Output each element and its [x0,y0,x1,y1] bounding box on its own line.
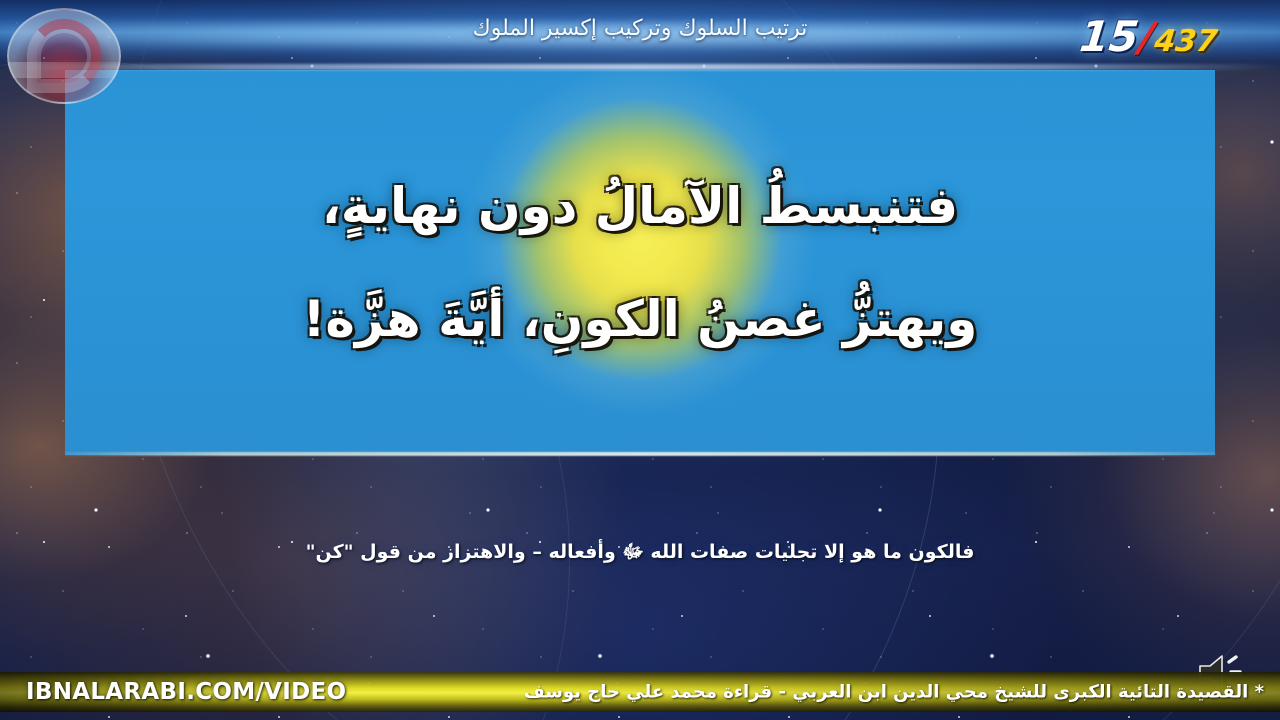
explanation-text: فالكون ما هو إلا تجليات صفات الله ﷻ وأفع… [0,540,1280,568]
page-counter-current: 15 [1078,16,1141,58]
slide-screen: فتنبسطُ الآمالُ دون نهايةٍ، ويهتزُّ غصنُ… [0,0,1280,720]
page-counter: 15 / 437 [1078,16,1220,58]
logo-band [7,62,121,78]
verse-text-block: فتنبسطُ الآمالُ دون نهايةٍ، ويهتزُّ غصنُ… [65,70,1215,455]
logo-spiral-icon [27,19,101,93]
footer-website-url[interactable]: IBNALARABI.COM/VIDEO [26,679,346,705]
verse-line-2: ويهتزُّ غصنُ الكونِ، أيَّةَ هزَّة! [303,288,978,351]
ibn-arabi-logo[interactable] [7,8,121,104]
verse-line-1: فتنبسطُ الآمالُ دون نهايةٍ، [322,175,958,238]
page-counter-total: 437 [1153,27,1219,57]
footer-bar: IBNALARABI.COM/VIDEO * القصيدة التائية ا… [0,672,1280,712]
footer-caption: * القصيدة التائية الكبرى للشيخ محي الدين… [524,682,1264,703]
header-underline [0,64,1280,70]
